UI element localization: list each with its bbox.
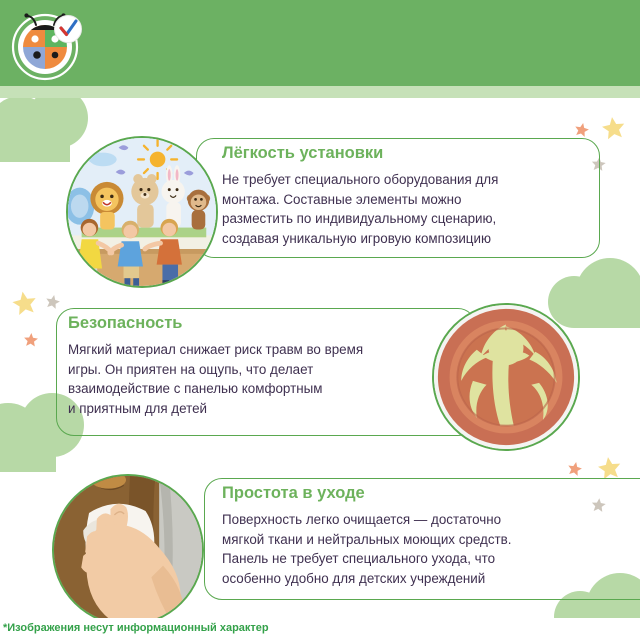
card-safety-line-4: и приятным для детей [68, 399, 428, 419]
star-yellow-1 [601, 116, 626, 140]
page-footer: *Изображения несут информационный характ… [0, 618, 640, 640]
card-safety-line-2: игры. Он приятен на ощупь, что делает [68, 360, 428, 380]
infographic-page: Развивающая настенно-напольная панель мо… [0, 0, 640, 640]
star-orange-3 [567, 461, 583, 477]
header-underline-band [0, 86, 640, 98]
star-yellow-3 [597, 456, 622, 480]
ladybug-logo-icon [8, 5, 86, 83]
cloud-right-upper [548, 258, 640, 328]
star-gray-2 [45, 294, 61, 310]
card-care-body: Поверхность легко очищается — достаточно… [222, 510, 622, 588]
card-installation-line-4: создавая уникальную игровую композицию [222, 229, 572, 249]
cloud-top-left [0, 88, 88, 162]
card-care-line-2: мягкой ткани и нейтральных моющих средст… [222, 530, 622, 550]
card-installation-content: Лёгкость установки Не требует специально… [222, 143, 572, 248]
card-safety-line-3: взаимодействие с панелью комфортным [68, 379, 428, 399]
hand-wiping-panel-with-cloth-photo [52, 474, 204, 626]
card-safety-line-1: Мягкий материал снижает риск травм во вр… [68, 340, 428, 360]
card-care-title: Простота в уходе [222, 483, 622, 503]
card-safety-body: Мягкий материал снижает риск травм во вр… [68, 340, 428, 418]
card-safety-content: Безопасность Мягкий материал снижает рис… [68, 313, 428, 418]
star-orange-1 [574, 122, 590, 138]
card-care-line-4: особенно удобно для детских учреждений [222, 569, 622, 589]
card-installation-line-1: Не требует специального оборудования для [222, 170, 572, 190]
card-installation-body: Не требует специального оборудования для… [222, 170, 572, 248]
card-safety-title: Безопасность [68, 313, 428, 333]
children-at-animal-wall-panel-photo [66, 136, 218, 288]
card-installation-title: Лёгкость установки [222, 143, 572, 163]
card-care-line-1: Поверхность легко очищается — достаточно [222, 510, 622, 530]
star-yellow-2 [11, 290, 38, 316]
card-installation-line-3: разместить по индивидуальному сценарию, [222, 209, 572, 229]
footer-disclaimer: *Изображения несут информационный характ… [3, 621, 269, 635]
card-installation-line-2: монтажа. Составные элементы можно [222, 190, 572, 210]
round-palm-tree-foam-panel-photo [432, 303, 580, 451]
star-orange-2 [24, 333, 39, 347]
card-care-content: Простота в уходе Поверхность легко очища… [222, 483, 622, 588]
page-header [0, 0, 640, 86]
card-care-line-3: Панель не требует специального ухода, чт… [222, 549, 622, 569]
